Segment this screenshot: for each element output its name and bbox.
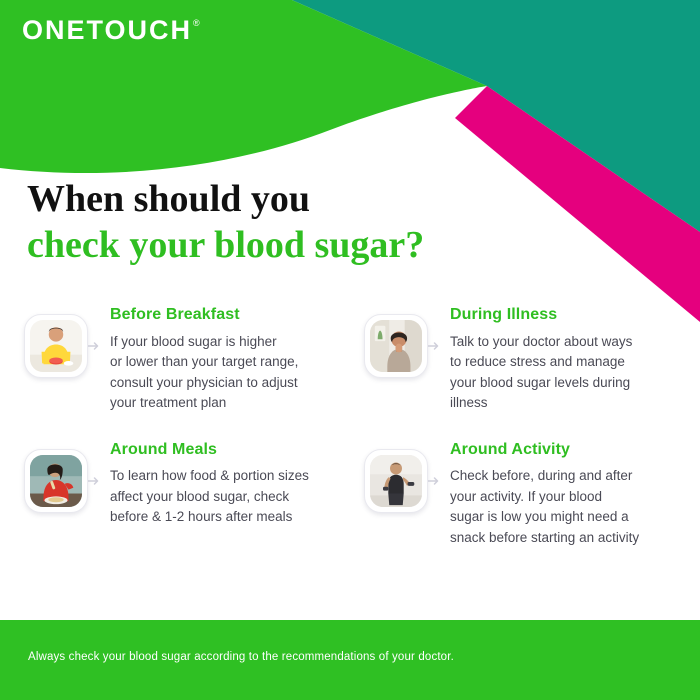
tip-card-body: Before Breakfast If your blood sugar is … [88, 306, 354, 414]
tip-card-body: During Illness Talk to your doctor about… [428, 306, 684, 414]
thumbnail-wrapper [24, 449, 88, 513]
tip-card-description: To learn how food & portion sizes affect… [110, 466, 354, 528]
tip-card-title: During Illness [450, 306, 684, 324]
thumbnail-frame [364, 314, 428, 378]
thumbnail-frame [364, 449, 428, 513]
tip-card-body: Around Meals To learn how food & portion… [88, 441, 354, 528]
tip-card-during-illness: During Illness Talk to your doctor about… [354, 306, 684, 414]
woman-eating-meal-photo [30, 455, 82, 507]
tips-grid-row: Around Meals To learn how food & portion… [24, 441, 684, 549]
thumbnail-frame [24, 449, 88, 513]
logo-wordmark: ONETOUCH [22, 17, 192, 44]
footer-disclaimer: Always check your blood sugar according … [28, 651, 454, 665]
tip-card-before-breakfast: Before Breakfast If your blood sugar is … [24, 306, 354, 414]
tips-grid: Before Breakfast If your blood sugar is … [24, 306, 684, 548]
tip-card-around-meals: Around Meals To learn how food & portion… [24, 441, 354, 549]
man-exercising-photo [370, 455, 422, 507]
page-title: When should you check your blood sugar? [27, 176, 424, 269]
infographic-poster: ONETOUCH ® When should you check your bl… [0, 0, 700, 700]
thumbnail-frame [24, 314, 88, 378]
tip-card-description: Talk to your doctor about ways to reduce… [450, 332, 684, 414]
tips-grid-row: Before Breakfast If your blood sugar is … [24, 306, 684, 414]
connector-arrow-icon [88, 476, 102, 486]
page-title-line-2: check your blood sugar? [27, 222, 424, 268]
man-eating-breakfast-photo [30, 320, 82, 372]
connector-arrow-icon [428, 476, 442, 486]
thumbnail-wrapper [24, 314, 88, 378]
footer-band: Always check your blood sugar according … [0, 620, 700, 700]
tip-card-around-activity: Around Activity Check before, during and… [354, 441, 684, 549]
connector-arrow-icon [428, 341, 442, 351]
tip-card-title: Around Activity [450, 441, 684, 459]
tip-card-description: Check before, during and after your acti… [450, 466, 684, 548]
onetouch-logo: ONETOUCH ® [22, 17, 200, 44]
tip-card-description: If your blood sugar is higher or lower t… [110, 332, 354, 414]
woman-feeling-ill-photo [370, 320, 422, 372]
thumbnail-wrapper [364, 449, 428, 513]
registered-trademark-icon: ® [193, 19, 200, 28]
connector-arrow-icon [88, 341, 102, 351]
tip-card-body: Around Activity Check before, during and… [428, 441, 684, 549]
tip-card-title: Around Meals [110, 441, 354, 459]
thumbnail-wrapper [364, 314, 428, 378]
page-title-line-1: When should you [27, 176, 424, 222]
tip-card-title: Before Breakfast [110, 306, 354, 324]
